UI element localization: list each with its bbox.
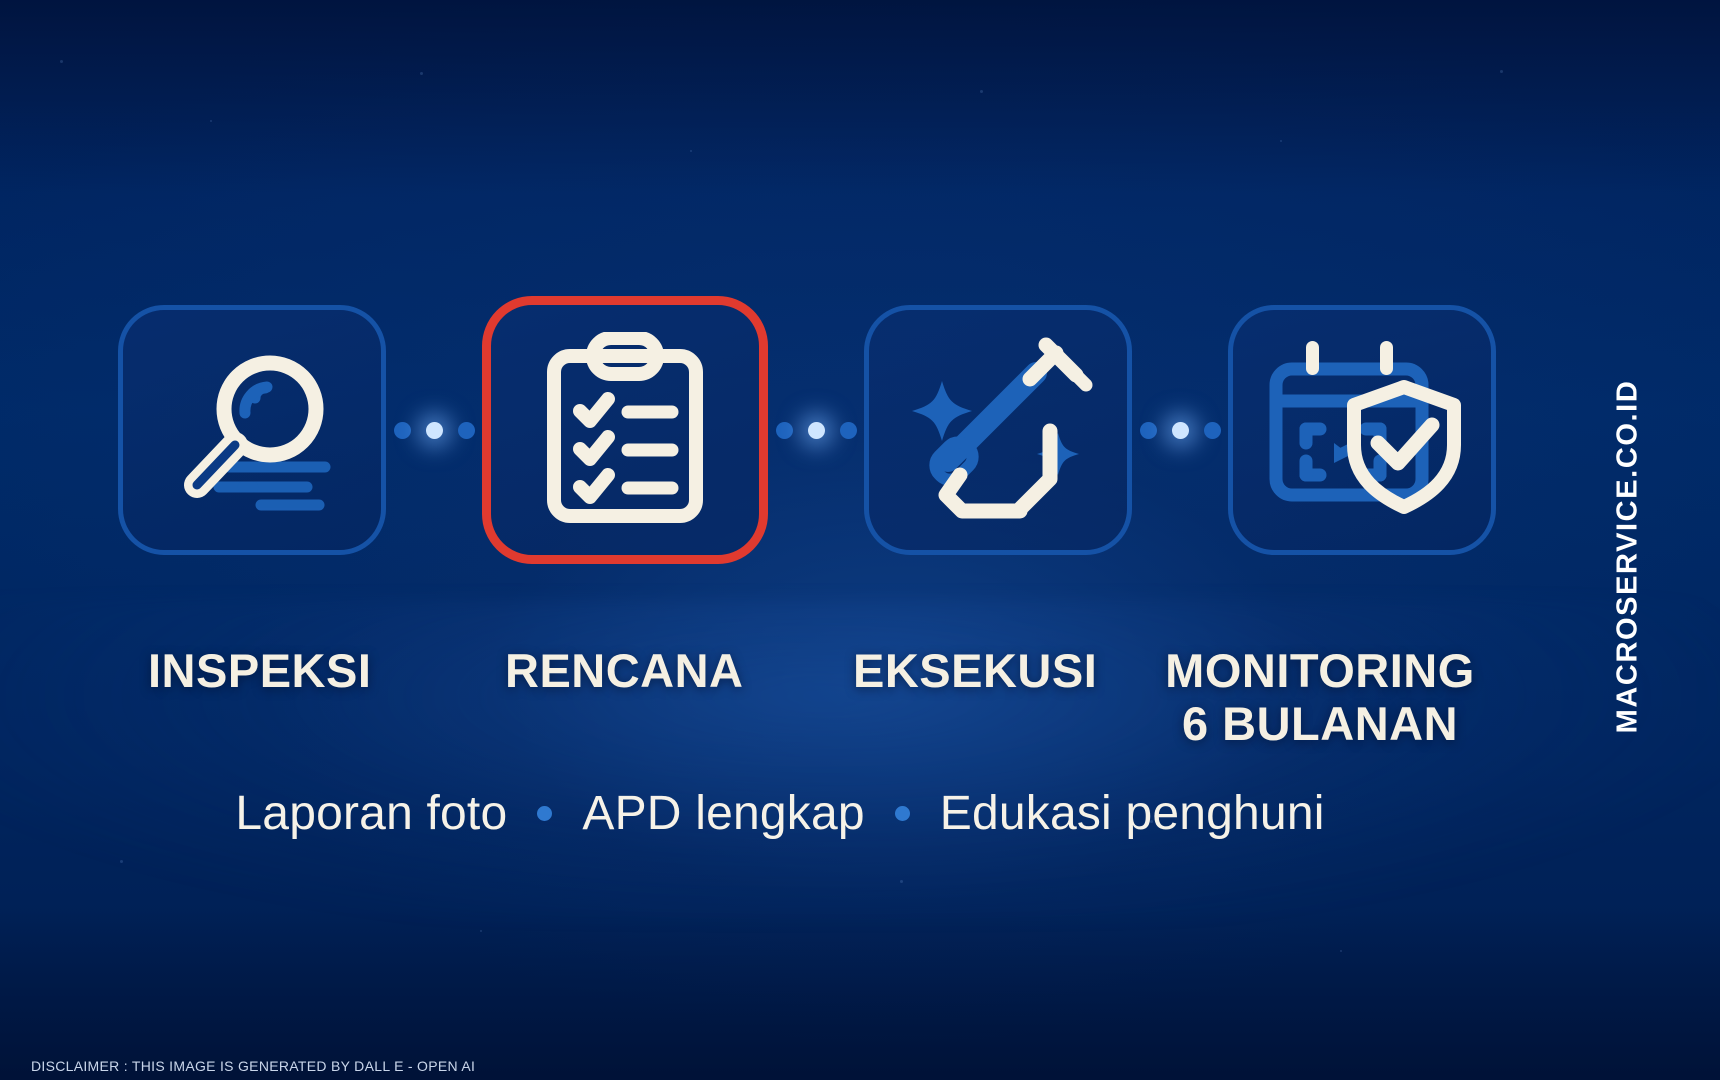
- poster-canvas: INSPEKSI RENCANA EKSEKUSI MONITORING 6 B…: [0, 0, 1720, 1080]
- connector-dot: [426, 422, 443, 439]
- step-tile-rencana[interactable]: [482, 296, 768, 564]
- connector-dot: [458, 422, 475, 439]
- connector-dot: [840, 422, 857, 439]
- step-labels: INSPEKSI RENCANA EKSEKUSI MONITORING 6 B…: [0, 640, 1560, 770]
- bullet-separator-icon: [537, 806, 552, 821]
- step-label-monitoring: MONITORING 6 BULANAN: [1140, 644, 1500, 750]
- step-tile-eksekusi[interactable]: [864, 305, 1132, 555]
- step-label-rencana: RENCANA: [505, 644, 745, 697]
- connector-dot: [1140, 422, 1157, 439]
- connector-dot: [808, 422, 825, 439]
- disclaimer-text: DISCLAIMER : THIS IMAGE IS GENERATED BY …: [31, 1058, 475, 1074]
- connector-dot: [1172, 422, 1189, 439]
- process-flow: [0, 300, 1560, 560]
- connector-dot: [394, 422, 411, 439]
- connector-3: [1132, 422, 1228, 439]
- watermark-macroservice: MACROSERVICE.CO.ID: [1612, 377, 1645, 737]
- tagline-item-1: Laporan foto: [235, 786, 507, 841]
- tagline-row: Laporan foto APD lengkap Edukasi penghun…: [0, 786, 1560, 841]
- tagline-item-3: Edukasi penghuni: [940, 786, 1325, 841]
- connector-1: [386, 422, 482, 439]
- bullet-separator-icon: [895, 806, 910, 821]
- magnifier-document-icon: [157, 335, 347, 525]
- step-label-eksekusi: EKSEKUSI: [853, 644, 1113, 697]
- step-tile-monitoring[interactable]: [1228, 305, 1496, 555]
- connector-2: [768, 422, 864, 439]
- clipboard-checklist-icon: [532, 332, 718, 528]
- connector-dot: [776, 422, 793, 439]
- spray-gun-sparkle-icon: [900, 335, 1096, 525]
- calendar-shield-icon: [1262, 335, 1462, 525]
- connector-dot: [1204, 422, 1221, 439]
- tagline-item-2: APD lengkap: [582, 786, 864, 841]
- step-tile-inspeksi[interactable]: [118, 305, 386, 555]
- step-label-inspeksi: INSPEKSI: [148, 644, 368, 697]
